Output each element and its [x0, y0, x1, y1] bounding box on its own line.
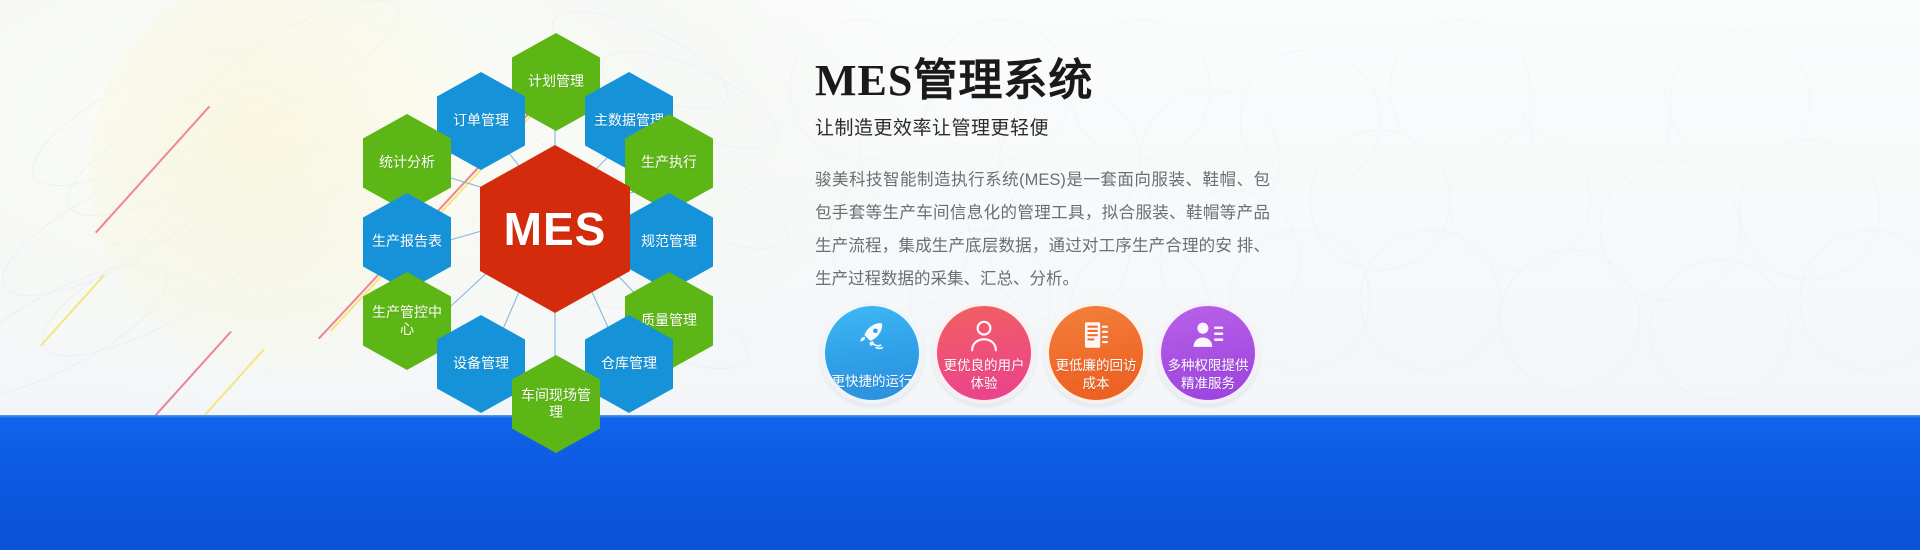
feature-badge-label: 更优良的用户体验 [938, 357, 1030, 392]
feature-badges: 更快捷的运行 更优良的用户体验 [822, 303, 1258, 403]
hex-node-label: 规范管理 [637, 233, 701, 250]
feature-badge-label: 更快捷的运行 [826, 373, 918, 392]
feature-badge-label: 更低廉的回访成本 [1050, 357, 1142, 392]
hero-description: 骏美科技智能制造执行系统(MES)是一套面向服装、鞋帽、包包手套等生产车间信息化… [815, 164, 1270, 296]
hex-core-label: MES [500, 201, 611, 257]
hex-node-label: 设备管理 [449, 355, 513, 372]
feature-badge-lower-revisit-cost[interactable]: 更低廉的回访成本 [1046, 303, 1146, 403]
hex-node-label: 计划管理 [524, 73, 588, 90]
rocket-icon [855, 318, 889, 352]
feature-badge-better-user-experience[interactable]: 更优良的用户体验 [934, 303, 1034, 403]
page-title: MES管理系统 [815, 58, 1285, 104]
user-permissions-icon [1191, 318, 1225, 352]
hex-node-label: 生产管控中心 [363, 304, 451, 338]
hex-node-label: 订单管理 [449, 112, 513, 129]
page-subtitle: 让制造更效率让管理更轻便 [815, 113, 1285, 140]
hex-node-label: 仓库管理 [597, 355, 661, 372]
user-icon [967, 318, 1001, 352]
hex-node-label: 生产执行 [637, 154, 701, 171]
mes-hexagon-diagram: 计划管理 订单管理 主数据管理 统计分析 生产执行 生产报告表 规范管理 生产管… [330, 10, 770, 440]
feature-badge-faster-operation[interactable]: 更快捷的运行 [822, 303, 922, 403]
hex-node-label: 车间现场管理 [512, 387, 600, 421]
feature-badge-label: 多种权限提供精准服务 [1162, 357, 1254, 392]
banner-background-bottom [0, 415, 1920, 550]
mes-promo-banner: 计划管理 订单管理 主数据管理 统计分析 生产执行 生产报告表 规范管理 生产管… [0, 0, 1920, 550]
hero-copy: MES管理系统 让制造更效率让管理更轻便 骏美科技智能制造执行系统(MES)是一… [815, 58, 1285, 296]
hex-node-label: 生产报告表 [368, 233, 446, 250]
feature-badge-multiple-permissions[interactable]: 多种权限提供精准服务 [1158, 303, 1258, 403]
document-list-icon [1079, 318, 1113, 352]
hex-node-label: 统计分析 [375, 154, 439, 171]
